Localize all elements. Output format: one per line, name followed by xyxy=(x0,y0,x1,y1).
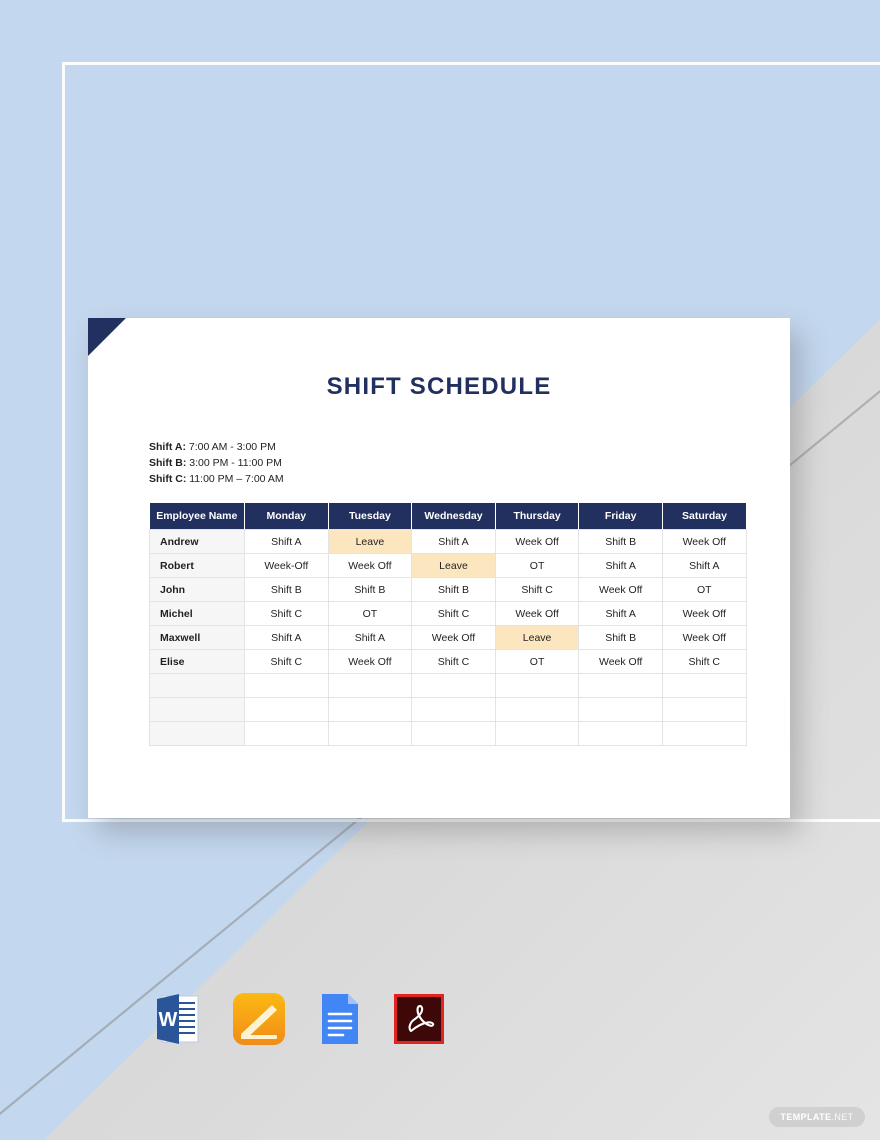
shift-cell: Leave xyxy=(495,626,579,650)
employee-name-cell: John xyxy=(150,578,245,602)
table-row: RobertWeek-OffWeek OffLeaveOTShift AShif… xyxy=(150,554,747,578)
shift-legend-item: Shift C: 11:00 PM – 7:00 AM xyxy=(149,471,284,487)
table-row: JohnShift BShift BShift BShift CWeek Off… xyxy=(150,578,747,602)
employee-name-cell xyxy=(150,674,245,698)
shift-cell xyxy=(245,674,329,698)
shift-legend-label: Shift B: xyxy=(149,457,186,469)
watermark-brand: TEMPLATE xyxy=(780,1112,831,1122)
page-title: SHIFT SCHEDULE xyxy=(88,373,790,401)
shift-cell xyxy=(495,674,579,698)
shift-cell: Week Off xyxy=(662,530,746,554)
watermark-tld: .NET xyxy=(831,1112,853,1122)
table-column-header: Employee Name xyxy=(150,503,245,530)
table-row: EliseShift CWeek OffShift COTWeek OffShi… xyxy=(150,650,747,674)
shift-cell: Shift C xyxy=(495,578,579,602)
shift-cell xyxy=(412,698,496,722)
table-body: AndrewShift ALeaveShift AWeek OffShift B… xyxy=(150,530,747,746)
screenshot-stage: SHIFT SCHEDULE Shift A: 7:00 AM - 3:00 P… xyxy=(0,0,880,1140)
shift-cell xyxy=(662,674,746,698)
shift-cell: Shift B xyxy=(245,578,329,602)
shift-cell xyxy=(245,698,329,722)
shift-cell: Shift A xyxy=(245,530,329,554)
shift-cell xyxy=(495,698,579,722)
shift-cell: Week Off xyxy=(328,554,412,578)
table-row xyxy=(150,674,747,698)
shift-cell: Shift B xyxy=(328,578,412,602)
shift-cell: Shift A xyxy=(579,602,663,626)
shift-cell: Shift A xyxy=(328,626,412,650)
shift-cell xyxy=(328,674,412,698)
employee-name-cell: Michel xyxy=(150,602,245,626)
table-column-header: Tuesday xyxy=(328,503,412,530)
shift-cell xyxy=(412,722,496,746)
apple-pages-icon[interactable] xyxy=(228,988,290,1050)
shift-cell: Week Off xyxy=(662,626,746,650)
shift-schedule-table: Employee NameMondayTuesdayWednesdayThurs… xyxy=(149,503,747,746)
shift-cell xyxy=(412,674,496,698)
shift-cell xyxy=(245,722,329,746)
shift-legend: Shift A: 7:00 AM - 3:00 PM Shift B: 3:00… xyxy=(149,439,284,488)
table-column-header: Thursday xyxy=(495,503,579,530)
shift-cell xyxy=(579,698,663,722)
shift-cell: Shift A xyxy=(245,626,329,650)
table-row: AndrewShift ALeaveShift AWeek OffShift B… xyxy=(150,530,747,554)
shift-cell: Shift C xyxy=(662,650,746,674)
shift-cell xyxy=(328,698,412,722)
employee-name-cell: Andrew xyxy=(150,530,245,554)
employee-name-cell xyxy=(150,698,245,722)
employee-name-cell xyxy=(150,722,245,746)
shift-cell xyxy=(579,674,663,698)
table-header-row: Employee NameMondayTuesdayWednesdayThurs… xyxy=(150,503,747,530)
shift-legend-item: Shift A: 7:00 AM - 3:00 PM xyxy=(149,439,284,455)
shift-cell: Week Off xyxy=(579,578,663,602)
shift-cell: Week-Off xyxy=(245,554,329,578)
shift-cell: OT xyxy=(328,602,412,626)
shift-cell: Week Off xyxy=(495,602,579,626)
shift-schedule-table-wrapper: Employee NameMondayTuesdayWednesdayThurs… xyxy=(149,503,746,746)
ms-word-icon[interactable]: W xyxy=(148,988,210,1050)
shift-cell: Leave xyxy=(412,554,496,578)
shift-cell xyxy=(328,722,412,746)
shift-cell: Shift B xyxy=(412,578,496,602)
employee-name-cell: Elise xyxy=(150,650,245,674)
shift-cell: Week Off xyxy=(662,602,746,626)
table-column-header: Friday xyxy=(579,503,663,530)
table-row xyxy=(150,698,747,722)
shift-cell: OT xyxy=(495,554,579,578)
table-column-header: Saturday xyxy=(662,503,746,530)
shift-cell: OT xyxy=(495,650,579,674)
shift-cell: Shift B xyxy=(579,530,663,554)
shift-legend-value: 3:00 PM - 11:00 PM xyxy=(186,457,282,469)
shift-cell xyxy=(495,722,579,746)
shift-legend-label: Shift A: xyxy=(149,441,186,453)
shift-cell: OT xyxy=(662,578,746,602)
shift-cell: Shift C xyxy=(245,650,329,674)
shift-cell: Week Off xyxy=(328,650,412,674)
shift-cell: Shift A xyxy=(579,554,663,578)
table-row: MaxwellShift AShift AWeek OffLeaveShift … xyxy=(150,626,747,650)
table-row: MichelShift COTShift CWeek OffShift AWee… xyxy=(150,602,747,626)
shift-cell: Shift A xyxy=(662,554,746,578)
google-docs-icon[interactable] xyxy=(308,988,370,1050)
template-net-watermark: TEMPLATE.NET xyxy=(769,1107,865,1127)
file-format-icons: W xyxy=(148,988,450,1050)
shift-cell: Shift A xyxy=(412,530,496,554)
employee-name-cell: Robert xyxy=(150,554,245,578)
shift-cell xyxy=(579,722,663,746)
shift-cell: Week Off xyxy=(579,650,663,674)
document-card: SHIFT SCHEDULE Shift A: 7:00 AM - 3:00 P… xyxy=(88,318,790,818)
shift-cell: Leave xyxy=(328,530,412,554)
table-header: Employee NameMondayTuesdayWednesdayThurs… xyxy=(150,503,747,530)
svg-text:W: W xyxy=(159,1009,178,1031)
adobe-pdf-icon[interactable] xyxy=(388,988,450,1050)
table-column-header: Monday xyxy=(245,503,329,530)
shift-cell: Week Off xyxy=(495,530,579,554)
shift-cell: Shift C xyxy=(245,602,329,626)
shift-cell: Shift B xyxy=(579,626,663,650)
shift-legend-value: 7:00 AM - 3:00 PM xyxy=(186,441,276,453)
shift-legend-label: Shift C: xyxy=(149,473,186,485)
shift-cell xyxy=(662,722,746,746)
shift-legend-value: 11:00 PM – 7:00 AM xyxy=(186,473,283,485)
shift-cell: Shift C xyxy=(412,602,496,626)
table-column-header: Wednesday xyxy=(412,503,496,530)
shift-cell: Shift C xyxy=(412,650,496,674)
shift-cell xyxy=(662,698,746,722)
employee-name-cell: Maxwell xyxy=(150,626,245,650)
table-row xyxy=(150,722,747,746)
shift-cell: Week Off xyxy=(412,626,496,650)
shift-legend-item: Shift B: 3:00 PM - 11:00 PM xyxy=(149,455,284,471)
